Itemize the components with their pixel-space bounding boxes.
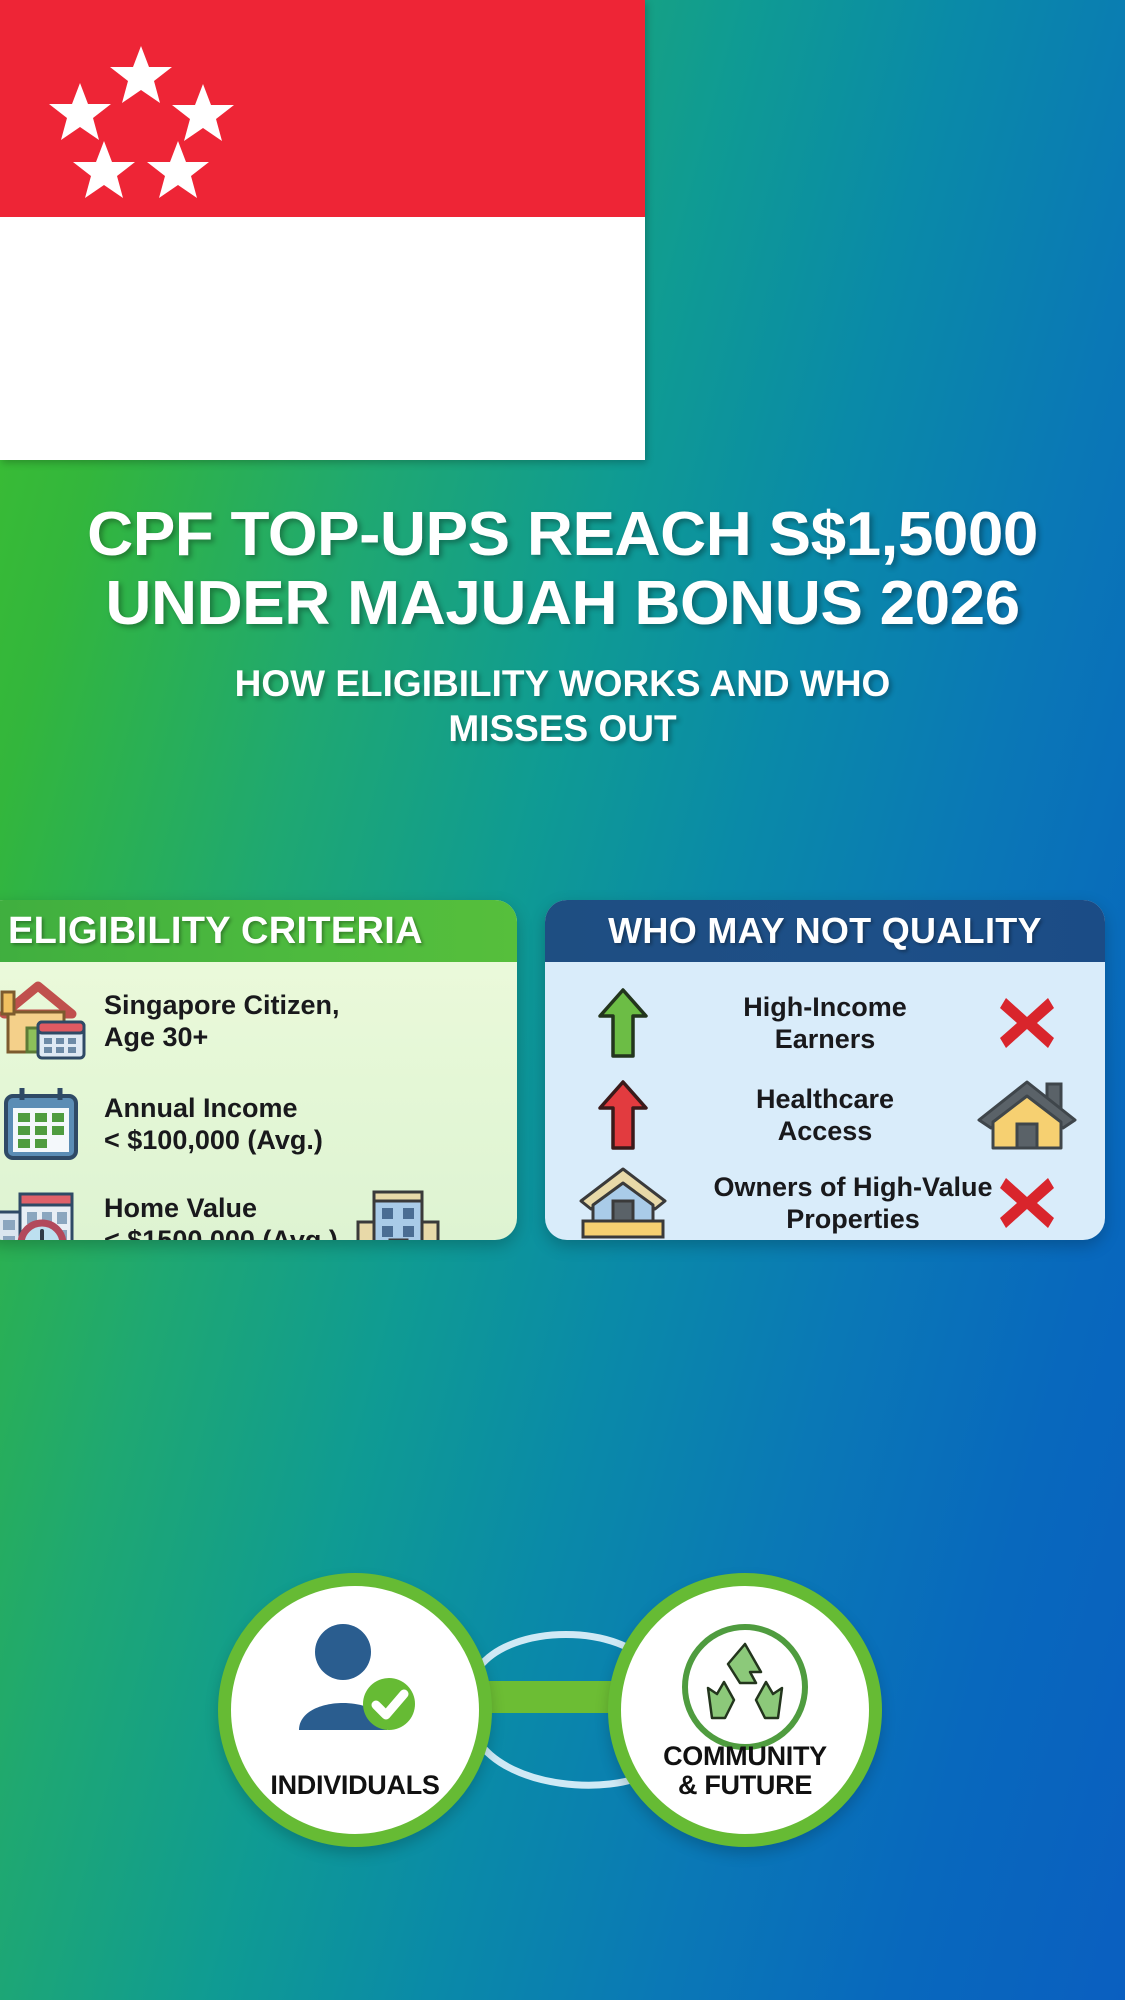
criteria-row: Home Value < $1500,000 (Avg.) — [0, 1182, 517, 1240]
clock-badge — [21, 1223, 63, 1240]
exclusion-line2: Access — [683, 1115, 967, 1147]
green-up-arrow-icon — [596, 986, 650, 1060]
exclusion-right-icon-slot — [967, 1170, 1087, 1236]
exclusion-line1: High-Income — [683, 991, 967, 1023]
office-building-icon — [352, 1186, 444, 1240]
calendar-icon — [0, 1084, 90, 1166]
criteria-row: Annual Income < $100,000 (Avg.) — [0, 1084, 517, 1166]
calendar-badge — [38, 1022, 84, 1058]
blue-house-icon — [575, 1163, 671, 1240]
exclusion-left-icon-slot — [563, 1163, 683, 1240]
badge-label: COMMUNITY & FUTURE — [621, 1742, 869, 1800]
outcome-badges: INDIVIDUALS COMMUNITY & FUTURE — [0, 1545, 1125, 1935]
page-title-line2: UNDER MAJUAH BONUS 2026 — [0, 569, 1125, 638]
yellow-house-icon — [975, 1076, 1079, 1154]
page-subtitle-line2: MISSES OUT — [0, 706, 1125, 751]
exclusion-card-body: High-Income Earners Healthcare — [545, 984, 1105, 1240]
exclusion-text: Healthcare Access — [683, 1083, 967, 1148]
criteria-text: Singapore Citizen, Age 30+ — [104, 990, 340, 1054]
criteria-row: Singapore Citizen, Age 30+ — [0, 978, 517, 1066]
red-cross-icon — [994, 990, 1060, 1056]
exclusion-line1: Healthcare — [683, 1083, 967, 1115]
singapore-flag — [0, 0, 645, 460]
person-check-icon — [285, 1620, 425, 1732]
exclusion-right-icon-slot — [967, 1076, 1087, 1154]
badge-individuals[interactable]: INDIVIDUALS — [218, 1573, 492, 1847]
exclusion-text: High-Income Earners — [683, 991, 967, 1056]
exclusion-row: High-Income Earners — [545, 984, 1105, 1062]
red-up-arrow-icon — [596, 1078, 650, 1152]
badge-community[interactable]: COMMUNITY & FUTURE — [608, 1573, 882, 1847]
red-cross-icon — [994, 1170, 1060, 1236]
eligibility-card-body: Singapore Citizen, Age 30+ — [0, 978, 517, 1240]
infographic-page: CPF TOP-UPS REACH S$1,5000 UNDER MAJUAH … — [0, 0, 1125, 2000]
criteria-line2: Age 30+ — [104, 1022, 340, 1054]
five-stars-icon — [49, 46, 234, 198]
criteria-text: Home Value < $1500,000 (Avg.) — [104, 1193, 338, 1240]
badge-label-line2: & FUTURE — [621, 1771, 869, 1800]
exclusion-card-header: WHO MAY NOT QUALITY — [545, 900, 1105, 962]
building-clock-icon — [0, 1182, 90, 1240]
criteria-line2: < $100,000 (Avg.) — [104, 1125, 323, 1157]
eligibility-card-header: ELIGIBILITY CRITERIA — [0, 900, 517, 962]
page-subtitle: HOW ELIGIBILITY WORKS AND WHO MISSES OUT — [0, 661, 1125, 751]
title-block: CPF TOP-UPS REACH S$1,5000 UNDER MAJUAH … — [0, 500, 1125, 751]
page-title-line1: CPF TOP-UPS REACH S$1,5000 — [0, 500, 1125, 569]
badge-label-line1: COMMUNITY — [621, 1742, 869, 1771]
exclusion-left-icon-slot — [563, 1078, 683, 1152]
exclusion-left-icon-slot — [563, 986, 683, 1060]
exclusion-card: WHO MAY NOT QUALITY High-Income Earners — [545, 900, 1105, 1240]
flag-emblem — [0, 0, 645, 460]
exclusion-row: Owners of High-Value Properties — [545, 1164, 1105, 1240]
criteria-line1: Annual Income — [104, 1093, 298, 1123]
house-calendar-icon — [0, 978, 90, 1066]
criteria-text: Annual Income < $100,000 (Avg.) — [104, 1093, 323, 1157]
recycle-icon — [678, 1620, 812, 1754]
criteria-line1: Home Value — [104, 1193, 257, 1223]
exclusion-line2: Earners — [683, 1023, 967, 1055]
exclusion-right-icon-slot — [967, 990, 1087, 1056]
eligibility-criteria-card: ELIGIBILITY CRITERIA — [0, 900, 517, 1240]
criteria-line2: < $1500,000 (Avg.) — [104, 1225, 338, 1240]
criteria-line1: Singapore Citizen, — [104, 990, 340, 1020]
page-subtitle-line1: HOW ELIGIBILITY WORKS AND WHO — [0, 661, 1125, 706]
badge-label: INDIVIDUALS — [231, 1771, 479, 1800]
exclusion-row: Healthcare Access — [545, 1076, 1105, 1154]
badge-label-line1: INDIVIDUALS — [231, 1771, 479, 1800]
